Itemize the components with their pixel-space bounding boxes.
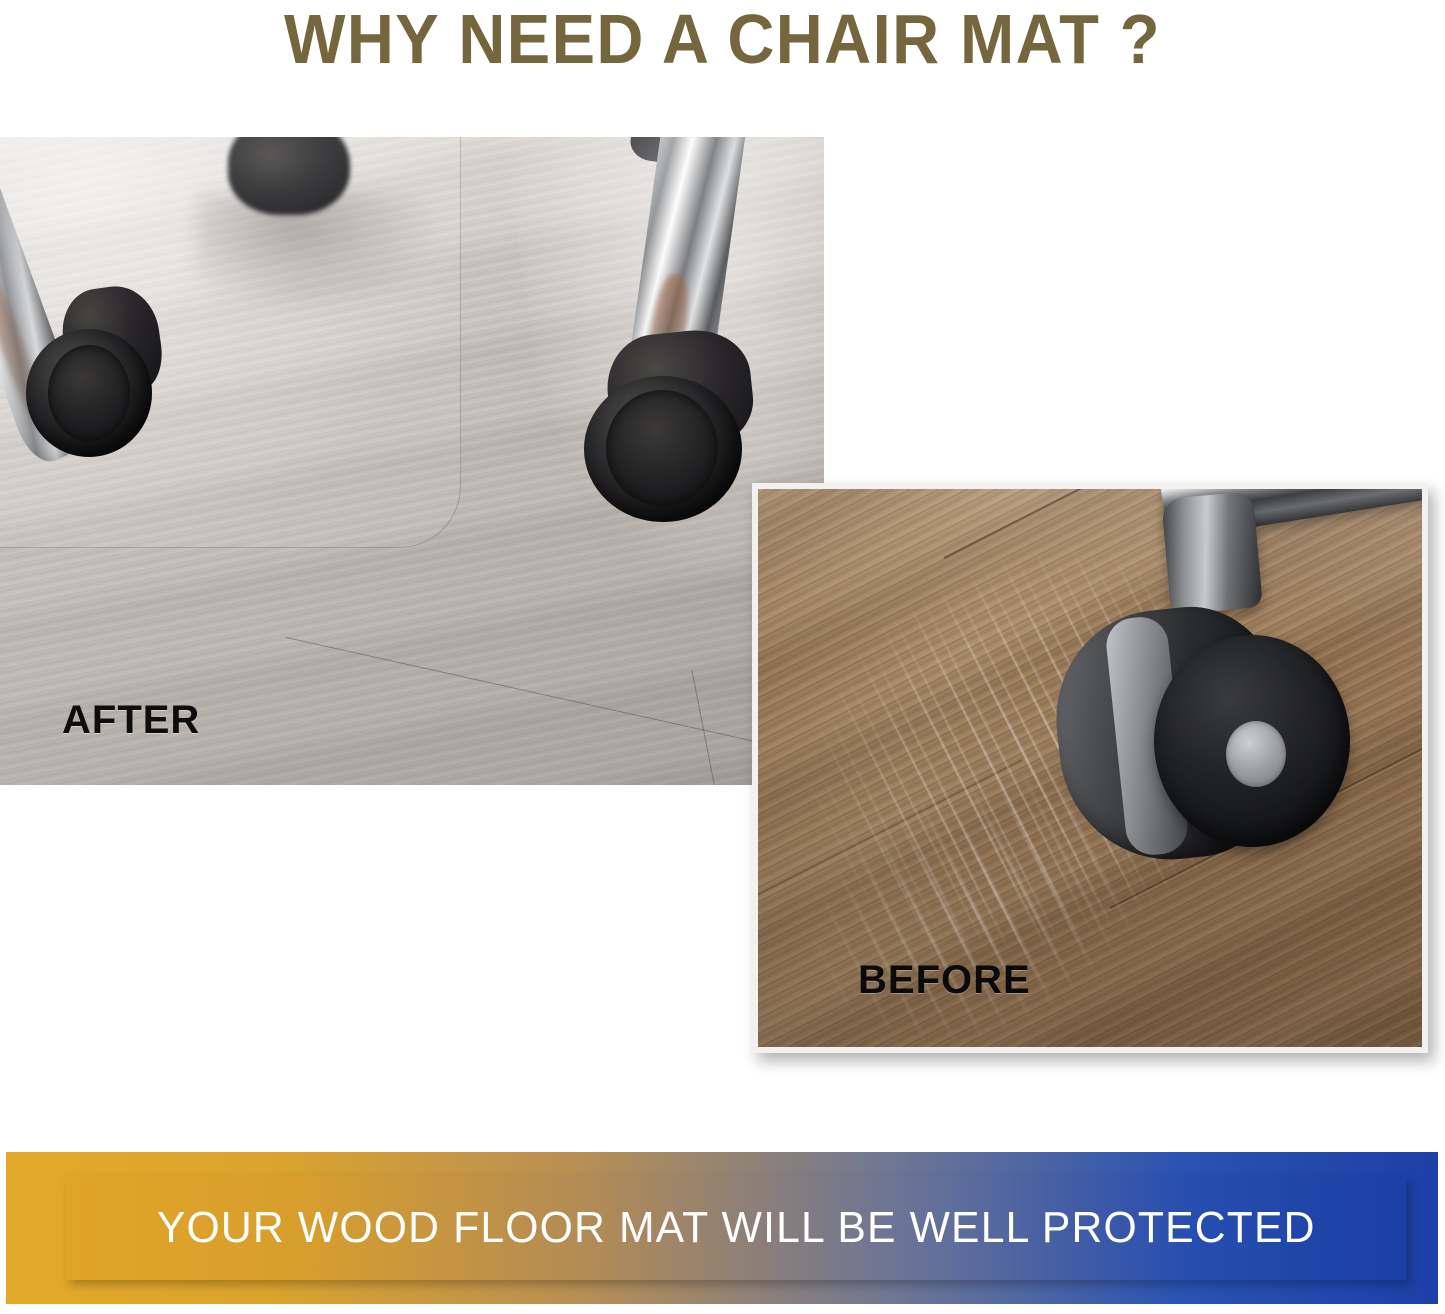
before-label: BEFORE (858, 958, 1031, 1003)
caster-damaging-floor (1058, 609, 1358, 879)
caster-wheel (584, 376, 742, 522)
caster-wheel (26, 329, 152, 457)
bottom-banner-text: YOUR WOOD FLOOR MAT WILL BE WELL PROTECT… (157, 1203, 1316, 1253)
page-title-bar: WHY NEED A CHAIR MAT ? (0, 0, 1445, 112)
after-photo: AFTER (0, 137, 824, 785)
bottom-banner: YOUR WOOD FLOOR MAT WILL BE WELL PROTECT… (6, 1152, 1438, 1304)
after-label: AFTER (62, 698, 200, 743)
comparison-stage: AFTER BEFORE (0, 112, 1445, 1147)
caster-left (26, 287, 186, 447)
rear-caster-blurred (228, 137, 350, 215)
page-title: WHY NEED A CHAIR MAT ? (284, 0, 1161, 76)
caster-right (578, 332, 758, 527)
before-photo: BEFORE (758, 489, 1422, 1047)
caster-hubcap (1226, 721, 1286, 787)
before-photo-frame: BEFORE (752, 483, 1428, 1053)
chrome-chair-post (1161, 491, 1263, 615)
bottom-banner-inner: YOUR WOOD FLOOR MAT WILL BE WELL PROTECT… (66, 1176, 1406, 1280)
